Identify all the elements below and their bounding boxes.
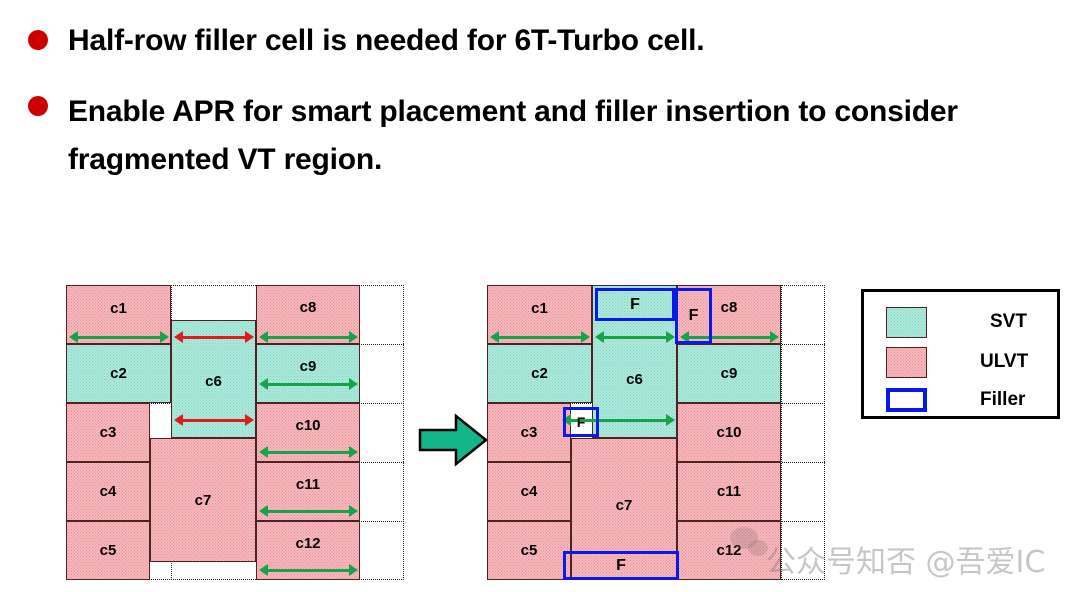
filler-label: F bbox=[577, 414, 586, 430]
arrow-head-right-icon bbox=[770, 331, 779, 343]
legend-swatch-ulvt bbox=[886, 347, 927, 378]
legend: SVT ULVT Filler bbox=[861, 289, 1060, 419]
width-arrow-c1 bbox=[490, 331, 590, 343]
legend-label-filler: Filler bbox=[980, 389, 1025, 411]
cell-label: c12 bbox=[716, 543, 741, 558]
cell-c5[interactable]: c5 bbox=[487, 521, 571, 580]
filler-label: F bbox=[630, 296, 640, 314]
cell-label: c11 bbox=[717, 484, 741, 499]
cell-label: c7 bbox=[616, 498, 633, 513]
cell-label: c4 bbox=[521, 484, 538, 499]
cell-c3[interactable]: c3 bbox=[487, 403, 571, 462]
cell-label: c1 bbox=[531, 301, 548, 316]
cell-label: c8 bbox=[721, 300, 738, 315]
legend-label-svt: SVT bbox=[990, 311, 1027, 333]
arrow-shaft bbox=[601, 336, 669, 339]
filler-mid-small[interactable]: F bbox=[563, 407, 599, 437]
legend-item-ulvt: ULVT bbox=[886, 345, 1056, 379]
legend-label-ulvt: ULVT bbox=[980, 351, 1028, 373]
cell-c4[interactable]: c4 bbox=[487, 462, 571, 521]
site-col-line bbox=[781, 285, 782, 580]
arrow-shaft bbox=[496, 336, 584, 339]
arrow-head-right-icon bbox=[581, 331, 590, 343]
slide-root: Half-row filler cell is needed for 6T-Tu… bbox=[0, 0, 1080, 592]
filler-label: F bbox=[616, 557, 626, 575]
cell-label: c2 bbox=[531, 366, 548, 381]
cell-label: c10 bbox=[716, 425, 741, 440]
cell-c11[interactable]: c11 bbox=[677, 462, 781, 521]
cell-c10[interactable]: c10 bbox=[677, 403, 781, 462]
legend-swatch-svt bbox=[886, 307, 927, 338]
filler-top-half-row[interactable]: F bbox=[595, 288, 675, 321]
legend-swatch-filler bbox=[886, 388, 927, 412]
cell-c12[interactable]: c12 bbox=[677, 521, 781, 580]
cell-label: c9 bbox=[721, 366, 738, 381]
cell-label: c3 bbox=[521, 425, 538, 440]
legend-item-svt: SVT bbox=[886, 305, 1046, 339]
cell-label: c6 bbox=[626, 372, 643, 387]
cell-c9[interactable]: c9 bbox=[677, 344, 781, 403]
cell-label: c5 bbox=[521, 543, 538, 558]
arrow-head-right-icon bbox=[666, 331, 675, 343]
filler-top-right[interactable]: F bbox=[675, 288, 712, 344]
legend-item-filler: Filler bbox=[886, 385, 1056, 415]
filler-label: F bbox=[689, 307, 699, 325]
width-arrow-c6-top bbox=[595, 331, 675, 343]
filler-bottom[interactable]: F bbox=[563, 551, 679, 580]
arrow-head-right-icon bbox=[666, 414, 675, 426]
cell-c2[interactable]: c2 bbox=[487, 344, 592, 403]
